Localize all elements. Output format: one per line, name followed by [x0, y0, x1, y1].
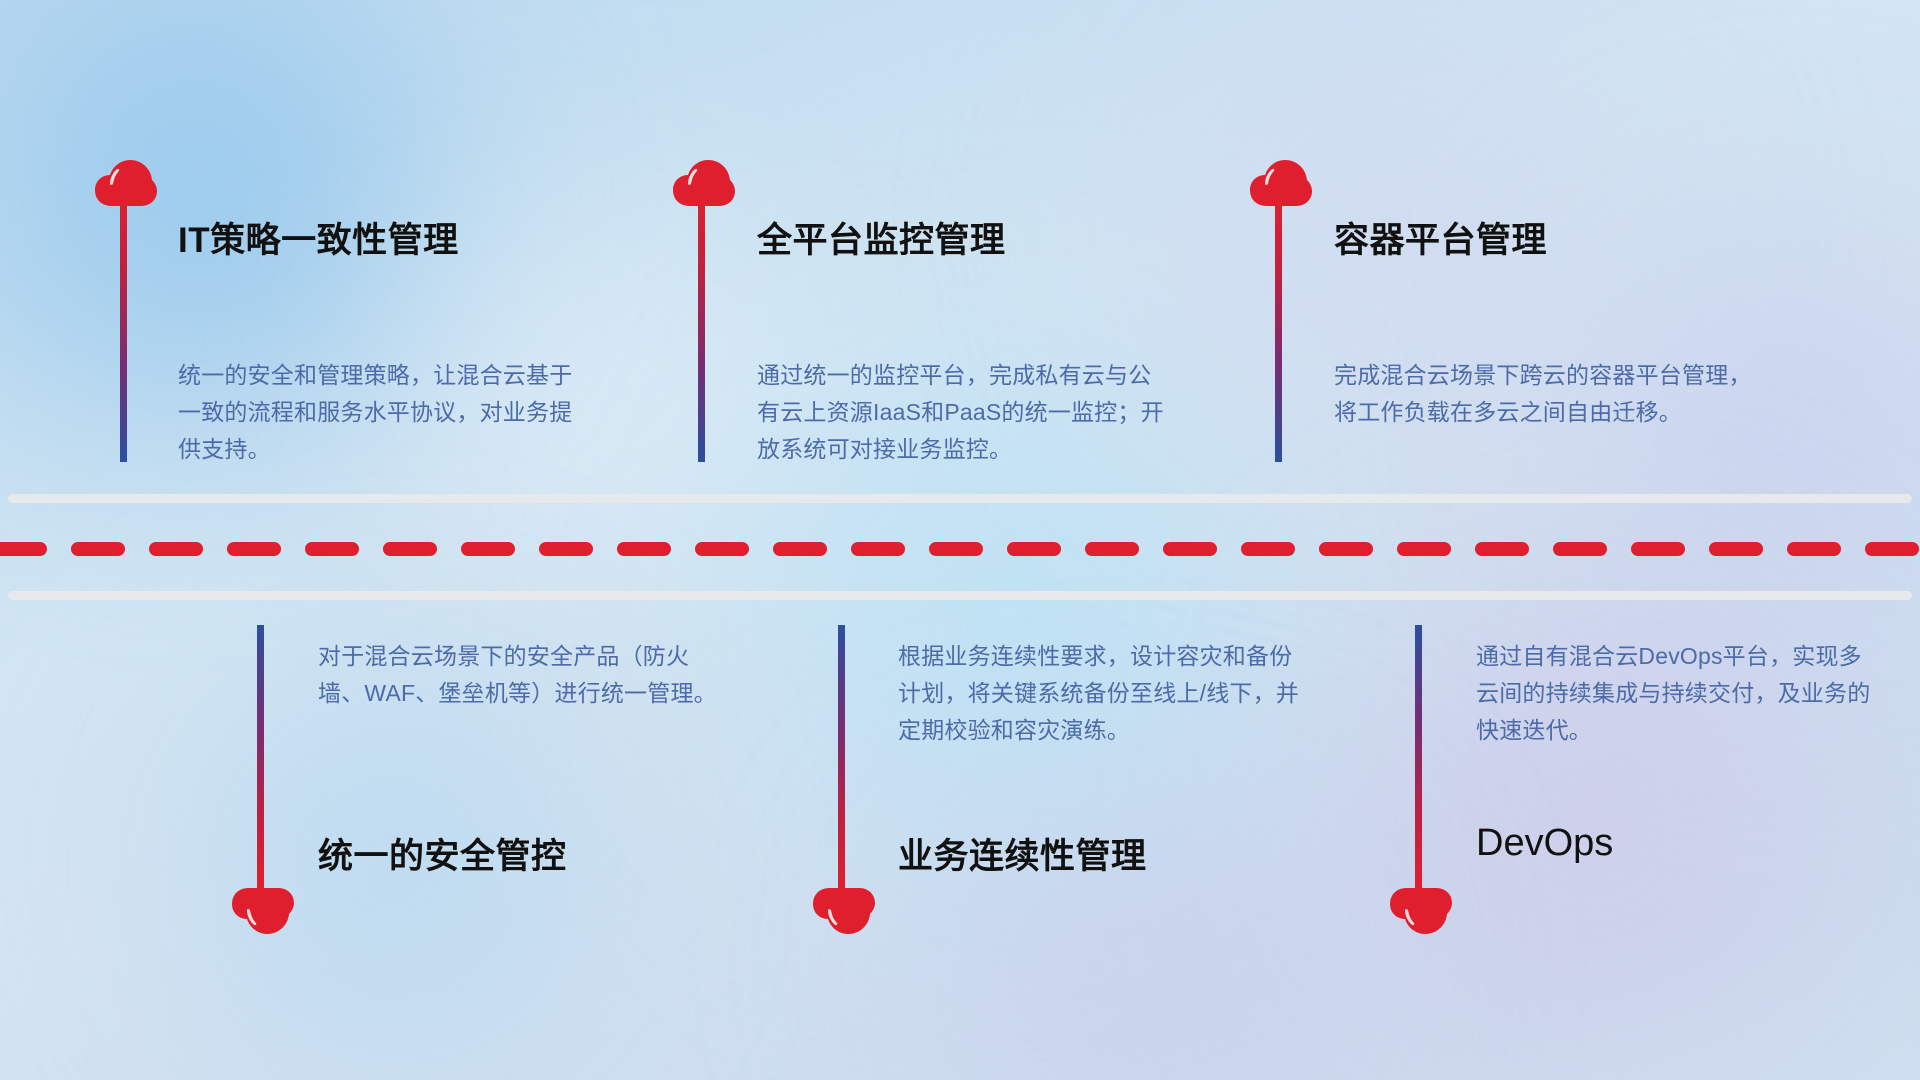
bottom-heading-2: 业务连续性管理: [898, 828, 1147, 879]
bottom-heading-1: 统一的安全管控: [318, 828, 567, 879]
connector-line: [698, 198, 705, 462]
divider-rule-top: [8, 494, 1912, 503]
bottom-heading-3: DevOps: [1476, 822, 1613, 865]
top-body-2: 通过统一的监控平台，完成私有云与公有云上资源IaaS和PaaS的统一监控；开放系…: [757, 357, 1169, 468]
cloud-icon: [232, 888, 294, 934]
cloud-icon: [813, 888, 875, 934]
connector-line: [1275, 198, 1282, 462]
top-heading-2: 全平台监控管理: [757, 212, 1006, 263]
bottom-body-2: 根据业务连续性要求，设计容灾和备份计划，将关键系统备份至线上/线下，并定期校验和…: [898, 638, 1313, 749]
red-dashed-divider: [0, 542, 1920, 556]
connector-line: [257, 625, 264, 890]
bottom-body-1: 对于混合云场景下的安全产品（防火墙、WAF、堡垒机等）进行统一管理。: [318, 638, 730, 712]
top-body-3: 完成混合云场景下跨云的容器平台管理，将工作负载在多云之间自由迁移。: [1334, 357, 1754, 431]
connector-line: [1415, 625, 1422, 890]
bottom-body-3: 通过自有混合云DevOps平台，实现多云间的持续集成与持续交付，及业务的快速迭代…: [1476, 638, 1876, 749]
connector-line: [120, 198, 127, 462]
cloud-icon: [1390, 888, 1452, 934]
top-body-1: 统一的安全和管理策略，让混合云基于一致的流程和服务水平协议，对业务提供支持。: [178, 357, 588, 468]
connector-line: [838, 625, 845, 890]
divider-rule-bottom: [8, 591, 1912, 600]
top-heading-3: 容器平台管理: [1334, 212, 1547, 263]
top-heading-1: IT策略一致性管理: [178, 212, 459, 263]
